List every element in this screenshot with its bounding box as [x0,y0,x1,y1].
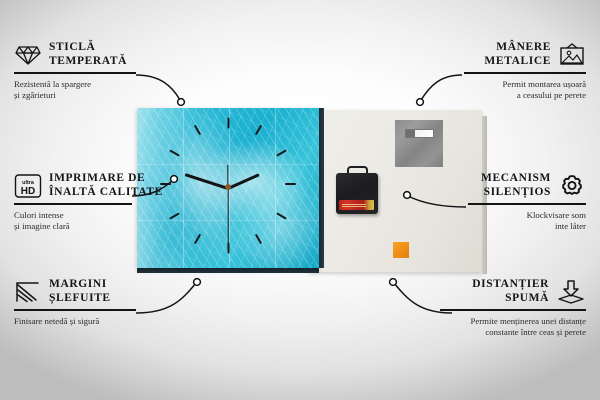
arrow-down-pad-icon [556,279,586,305]
leader-dot-margini [194,279,201,286]
gear-icon [558,173,586,199]
battery-label-stripes [342,203,366,207]
leader-line-sticla [136,75,180,100]
clock-center-pivot [225,184,231,190]
infographic-canvas: STICLĂ TEMPERATĂ Rezistentă la spargere … [0,0,600,400]
ultra-hd-icon: ultra HD [14,173,42,199]
callout-title: MÂNERE METALICE [484,41,551,68]
callout-header: MÂNERE METALICE [462,41,586,68]
callout-mecanism-silentios: MECANISM SILENȚIOS Klockvisare som inte … [466,172,586,232]
callout-header: MARGINI ȘLEFUITE [14,278,138,305]
callout-title: MARGINI ȘLEFUITE [49,278,111,305]
callout-title: MECANISM SILENȚIOS [481,172,551,199]
clock-face [137,108,319,268]
tick-4 [276,212,287,219]
leader-dot-distantier [390,279,397,286]
diamond-icon [14,43,42,67]
minute-hand [185,173,229,190]
tick-11 [194,125,201,136]
leader-dot-manere [417,99,424,106]
callout-header: STICLĂ TEMPERATĂ [14,41,138,68]
metal-hanger-plate [395,120,443,167]
callout-manere-metalice: MÂNERE METALICE Permit montarea ușoară a… [462,41,586,101]
second-hand [227,188,228,244]
tick-12 [228,118,230,129]
callout-header: MECANISM SILENȚIOS [466,172,586,199]
leader-line-manere [421,75,462,100]
tick-5 [255,234,262,245]
glass-edge-bottom [137,268,319,273]
callout-rule [464,72,586,74]
callout-header: DISTANȚIER SPUMĂ [438,278,586,305]
tick-8 [169,212,180,219]
callout-rule [468,203,586,205]
callout-distantier-spuma: DISTANȚIER SPUMĂ Permite menținerea unei… [438,278,586,338]
callout-sticla-temperata: STICLĂ TEMPERATĂ Rezistentă la spargere … [14,41,138,101]
callout-rule [14,203,132,205]
leader-line-margini [136,283,196,313]
leader-dot-sticla [178,99,185,106]
polished-edges-icon [14,280,42,304]
callout-title: DISTANȚIER SPUMĂ [472,278,549,305]
callout-imprimare-hd: ultra HD IMPRIMARE DE ÎNALTĂ CALITATE Cu… [14,172,134,232]
product-image [137,108,482,276]
callout-title: IMPRIMARE DE ÎNALTĂ CALITATE [49,172,163,199]
hanger-keyhole-slot [405,129,434,138]
callout-rule [14,72,136,74]
foam-spacer [393,242,409,258]
callout-header: ultra HD IMPRIMARE DE ÎNALTĂ CALITATE [14,172,134,199]
hour-hand [227,173,259,190]
callout-margini-slefuite: MARGINI ȘLEFUITE Finisare netedă și sigu… [14,278,138,327]
callout-rule [14,309,136,311]
callout-title: STICLĂ TEMPERATĂ [49,41,127,68]
tick-7 [194,234,201,245]
callout-rule [440,309,586,311]
glass-edge-right [319,108,324,268]
tick-1 [255,125,262,136]
tick-3 [285,183,296,185]
picture-hanger-icon [558,42,586,67]
tick-10 [169,149,180,156]
tick-2 [276,149,287,156]
svg-text:HD: HD [21,186,35,197]
